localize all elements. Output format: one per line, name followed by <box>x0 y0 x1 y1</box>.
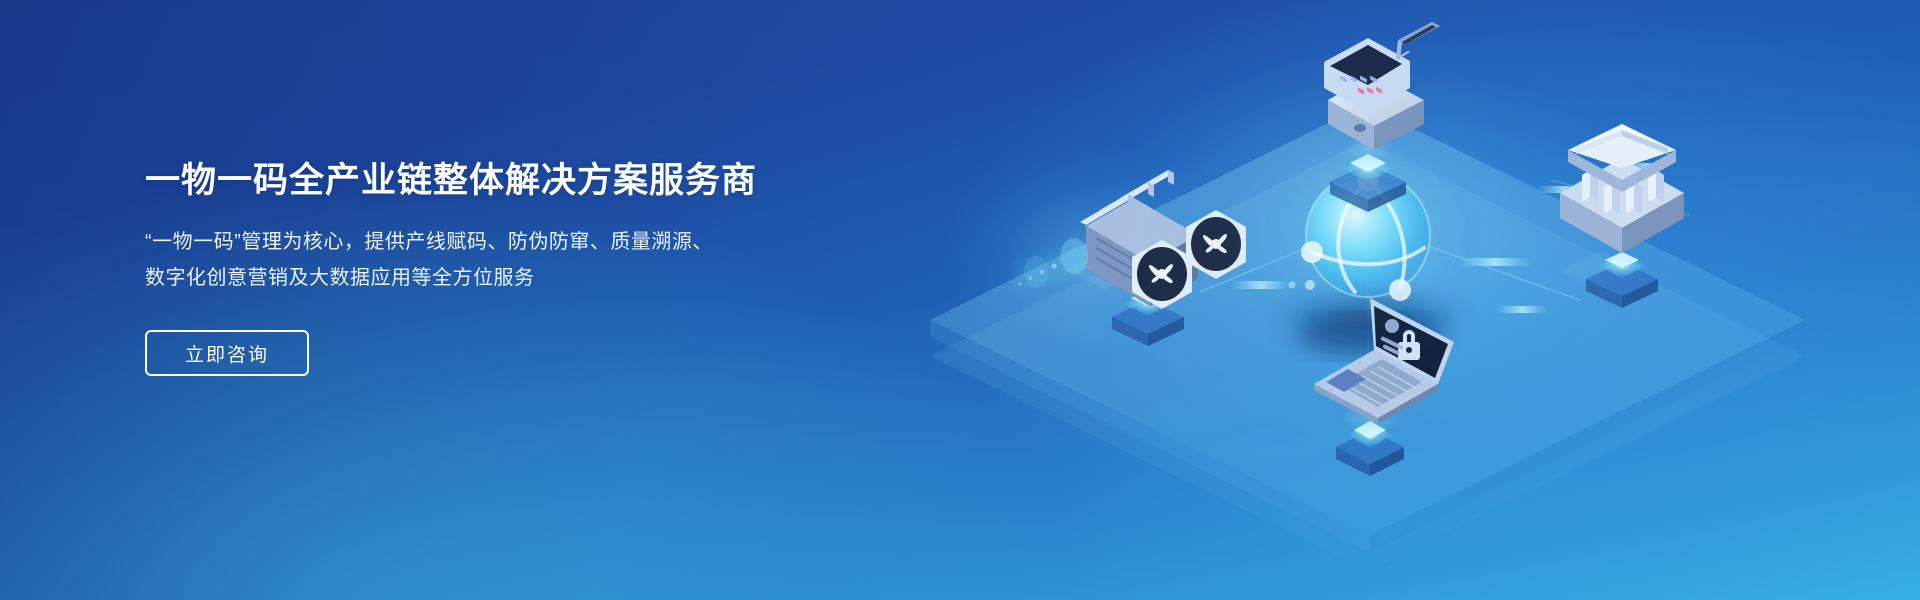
page-title: 一物一码全产业链整体解决方案服务商 <box>145 160 865 202</box>
subtitle-block: “一物一码”管理为核心，提供产线赋码、防伪防窜、质量溯源、 数字化创意营销及大数… <box>145 224 865 296</box>
hero-copy: 一物一码全产业链整体解决方案服务商 “一物一码”管理为核心，提供产线赋码、防伪防… <box>145 160 865 376</box>
illustration-container <box>900 0 1920 600</box>
subtitle-line-1: “一物一码”管理为核心，提供产线赋码、防伪防窜、质量溯源、 <box>145 224 865 260</box>
isometric-iot-network-illustration <box>900 0 1920 600</box>
consult-now-button[interactable]: 立即咨询 <box>145 330 309 376</box>
subtitle-line-2: 数字化创意营销及大数据应用等全方位服务 <box>145 260 865 296</box>
hero-banner: 一物一码全产业链整体解决方案服务商 “一物一码”管理为核心，提供产线赋码、防伪防… <box>0 0 1920 600</box>
